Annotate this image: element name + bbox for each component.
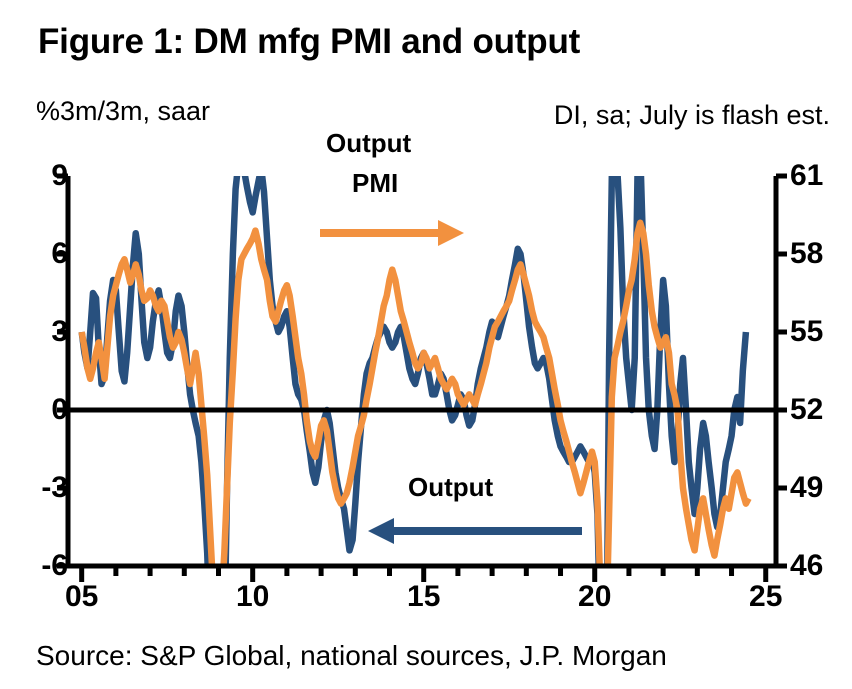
y-tick-label-left: 0	[8, 395, 68, 425]
y-tick-label-right: 58	[790, 239, 850, 269]
y-tick-label-right: 52	[790, 395, 850, 425]
y-tick-label-right: 49	[790, 473, 850, 503]
x-tick-label: 10	[223, 582, 283, 612]
annotation-output-pmi-line2: PMI	[352, 168, 398, 199]
left-axis-unit-label: %3m/3m, saar	[36, 96, 210, 127]
y-tick-label-left: -6	[8, 551, 68, 581]
annotation-output: Output	[408, 472, 493, 503]
x-tick-label: 20	[565, 582, 625, 612]
x-tick-label: 05	[52, 582, 112, 612]
arrow-right-pmi	[320, 220, 464, 246]
series-line-pmi	[82, 223, 749, 689]
y-tick-label-right: 55	[790, 317, 850, 347]
y-tick-label-right: 46	[790, 551, 850, 581]
figure-container: Figure 1: DM mfg PMI and output %3m/3m, …	[0, 0, 852, 689]
y-tick-label-right: 61	[790, 161, 850, 191]
y-tick-label-left: -3	[8, 473, 68, 503]
y-tick-label-left: 3	[8, 317, 68, 347]
source-note: Source: S&P Global, national sources, J.…	[36, 640, 667, 672]
y-tick-label-left: 6	[8, 239, 68, 269]
x-tick-label: 25	[736, 582, 796, 612]
x-tick-label: 15	[394, 582, 454, 612]
annotation-output-pmi-line1: Output	[326, 128, 411, 159]
arrow-left-output	[368, 518, 582, 544]
y-tick-label-left: 9	[8, 161, 68, 191]
right-axis-unit-label: DI, sa; July is flash est.	[554, 100, 830, 131]
figure-title: Figure 1: DM mfg PMI and output	[38, 22, 580, 62]
